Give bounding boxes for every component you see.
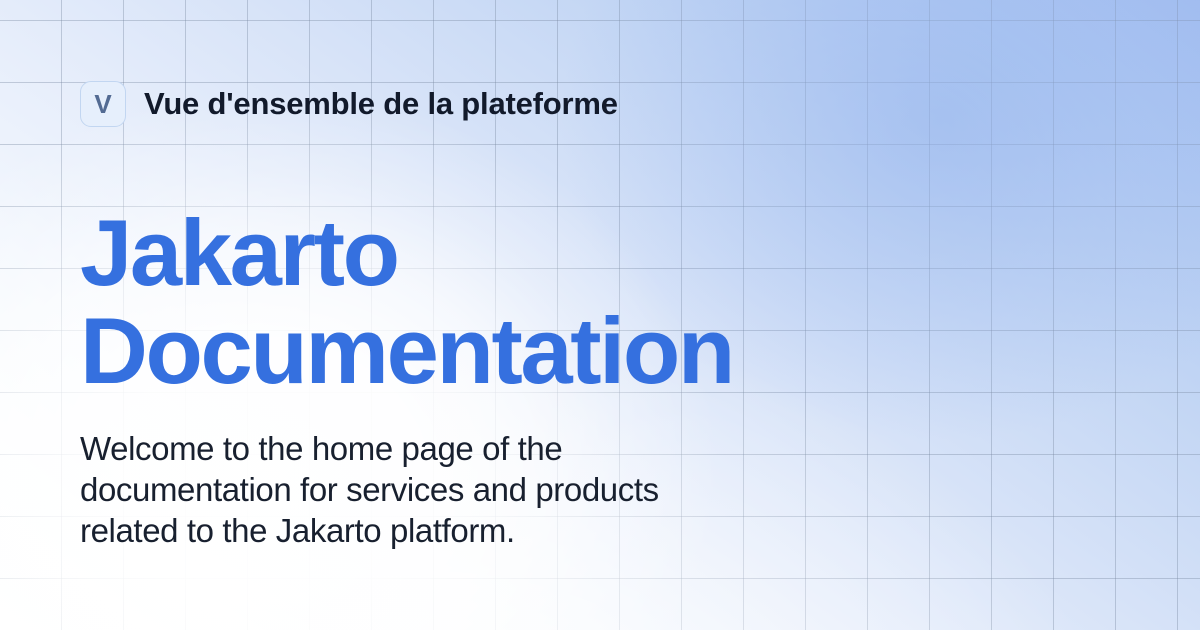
page-title-line-2: Documentation <box>80 302 733 400</box>
og-card-canvas: V Vue d'ensemble de la plateforme Jakart… <box>0 0 1200 630</box>
letter-v-badge-icon: V <box>80 81 126 127</box>
page-title: Jakarto Documentation <box>80 204 733 400</box>
page-description: Welcome to the home page of the document… <box>80 428 659 551</box>
page-description-line-1: Welcome to the home page of the <box>80 428 659 469</box>
eyebrow-label: Vue d'ensemble de la plateforme <box>144 86 618 122</box>
page-title-line-1: Jakarto <box>80 204 733 302</box>
eyebrow-row: V Vue d'ensemble de la plateforme <box>80 81 618 127</box>
page-description-line-2: documentation for services and products <box>80 469 659 510</box>
card-content: V Vue d'ensemble de la plateforme Jakart… <box>0 0 1200 630</box>
page-description-line-3: related to the Jakarto platform. <box>80 510 659 551</box>
